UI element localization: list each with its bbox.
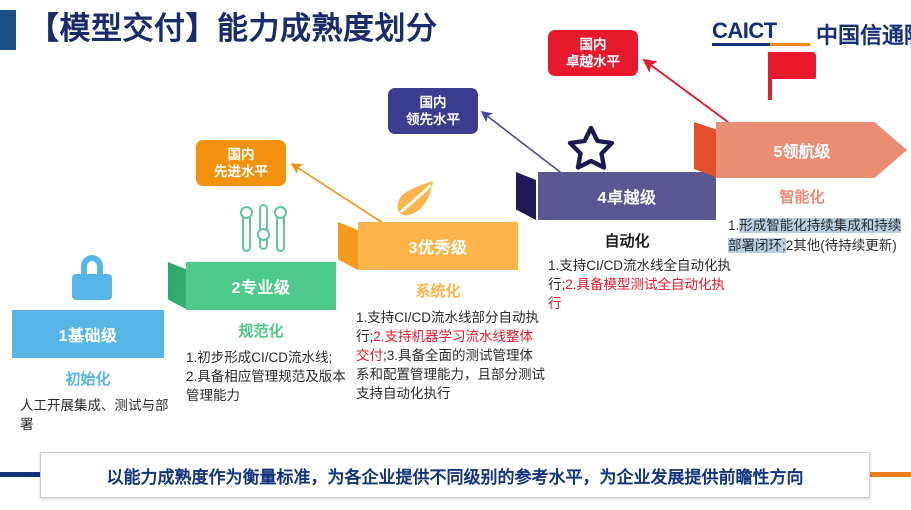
step-1-level: 1基础级 [59,322,118,346]
step-5-body: 1.形成智能化持续集成和持续部署闭环;2其他(待持续更新) [728,216,908,256]
step-5-subtitle: 智能化 [716,186,888,207]
callout-leading-line1: 国内 [398,94,468,111]
callout-excellent-line1: 国内 [558,36,628,53]
step-1-bar: 1基础级 [12,310,164,358]
step-3-subtitle: 系统化 [358,280,518,301]
star-icon [567,124,615,170]
step-3-fold [338,222,358,270]
caict-logo: CAICT 中国信通院 [712,18,902,46]
step-1-body: 人工开展集成、测试与部署 [20,396,180,434]
step-4-fold [516,172,536,220]
step-4-bar: 4卓越级 [538,172,716,220]
summary-banner: 以能力成熟度作为衡量标准，为各企业提供不同级别的参考水平，为企业发展提供前瞻性方… [40,452,870,498]
step-2-level: 2专业级 [232,274,291,298]
step-2-subtitle: 规范化 [186,320,336,341]
callout-excellent: 国内 卓越水平 [548,30,638,76]
step-4-subtitle: 自动化 [538,230,716,251]
sliders-icon [240,202,290,254]
slider-knob-2 [257,228,270,241]
step-2-fold [168,262,188,310]
step-4-level: 4卓越级 [598,184,657,208]
slider-track-2 [259,204,268,250]
callout-leading-line2: 领先水平 [398,111,468,128]
step-2-bar: 2专业级 [186,262,336,310]
step-3-body-part3: ;3.具备全面的测试管理体系和配置管理能力，且部分测试支持自动化执行 [356,348,545,401]
step-5-level: 5领航级 [716,122,888,178]
leaf-icon [392,178,436,220]
callout-advanced-line1: 国内 [206,146,276,163]
step-3-bar: 3优秀级 [358,222,518,270]
slider-knob-3 [274,206,287,219]
lock-icon [72,255,112,299]
step-4-body-highlight: 2.具备模型测试全自动化执行 [548,277,725,311]
slide-canvas: 【模型交付】能力成熟度划分 CAICT 中国信通院 国内 先进水平 [0,0,911,510]
step-5-body-num: 1. [728,218,739,233]
step-3-level: 3优秀级 [409,234,468,258]
step-2-body: 1.初步形成CI/CD流水线;2.具备相应管理规范及版本管理能力 [186,348,356,405]
summary-banner-text: 以能力成熟度作为衡量标准，为各企业提供不同级别的参考水平，为企业发展提供前瞻性方… [107,463,804,488]
logo-underline-navy [712,43,770,46]
logo-wordmark: CAICT [712,18,777,44]
callout-advanced: 国内 先进水平 [196,140,286,186]
slider-knob-1 [240,206,253,219]
page-title: 【模型交付】能力成熟度划分 [28,6,438,52]
step-4-body: 1.支持CI/CD流水线全自动化执行;2.具备模型测试全自动化执行 [548,256,738,313]
callout-advanced-line2: 先进水平 [206,163,276,180]
step-5-fold [694,122,718,178]
step-5-body-rest: 2其他(待持续更新) [786,238,897,253]
banner-rule-right [865,472,911,477]
lock-body [72,274,112,300]
flag-cloth [772,52,816,79]
step-5-arrow: 5领航级 [716,122,907,178]
red-flag-icon [768,52,826,100]
callout-excellent-line2: 卓越水平 [558,53,628,70]
title-accent-marker [0,10,16,50]
logo-chinese-name: 中国信通院 [816,18,911,50]
step-3-body: 1.支持CI/CD流水线部分自动执行;2.支持机器学习流水线整体交付;3.具备全… [356,308,546,403]
callout-leading: 国内 领先水平 [388,88,478,134]
step-1-subtitle: 初始化 [12,368,164,389]
step-2-body-line: 1.初步形成CI/CD流水线;2.具备相应管理规范及版本管理能力 [186,348,356,405]
logo-underline-orange [770,43,810,46]
